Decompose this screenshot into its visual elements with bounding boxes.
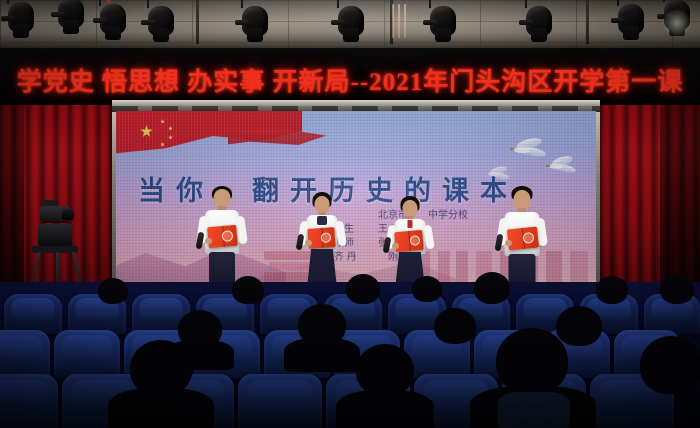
red-folder: [507, 226, 539, 250]
microphone: [383, 237, 392, 254]
fluorescent-tube: [392, 4, 394, 38]
ceiling-rail: [196, 0, 199, 44]
audience-head: [596, 276, 628, 304]
seat: [0, 374, 58, 428]
audience-head: [412, 276, 442, 302]
audience-head: [346, 274, 380, 304]
audience-shoulders: [336, 390, 434, 428]
audience-head: [640, 336, 700, 394]
auditorium-photo: 学党史 悟思想 办实事 开新局--2021年门头沟区开学第一课: [0, 0, 700, 428]
audience-head: [98, 278, 128, 304]
ceiling-rail: [586, 0, 589, 44]
audience-head: [660, 274, 694, 304]
audience-shirt: [498, 392, 570, 428]
audience-head: [474, 272, 510, 304]
seat: [0, 330, 50, 378]
fluorescent-tube: [404, 4, 406, 38]
audience-head: [434, 308, 476, 344]
dove-icon: [512, 139, 552, 161]
red-folder: [394, 230, 424, 252]
tripod-head: [38, 224, 72, 246]
seat: [4, 294, 62, 334]
neck-scarf: [317, 216, 327, 225]
red-folder: [207, 225, 238, 248]
audience-shoulders: [284, 338, 360, 372]
neck-tie: [408, 220, 413, 228]
red-folder: [307, 227, 335, 249]
chinese-flag-ribbon: [228, 129, 326, 151]
seat: [54, 330, 120, 378]
audience-seating-area: [0, 282, 700, 428]
audience-head: [496, 328, 568, 394]
microphone: [296, 234, 305, 251]
fluorescent-tube: [398, 4, 400, 38]
audience-head: [556, 306, 602, 346]
seat: [238, 374, 322, 428]
audience-shoulders: [108, 388, 214, 428]
audience-head: [356, 344, 414, 396]
camera-lens-icon: [62, 209, 74, 220]
audience-head: [232, 276, 264, 304]
event-banner-title: 学党史 悟思想 办实事 开新局--2021年门头沟区开学第一课: [0, 60, 700, 100]
